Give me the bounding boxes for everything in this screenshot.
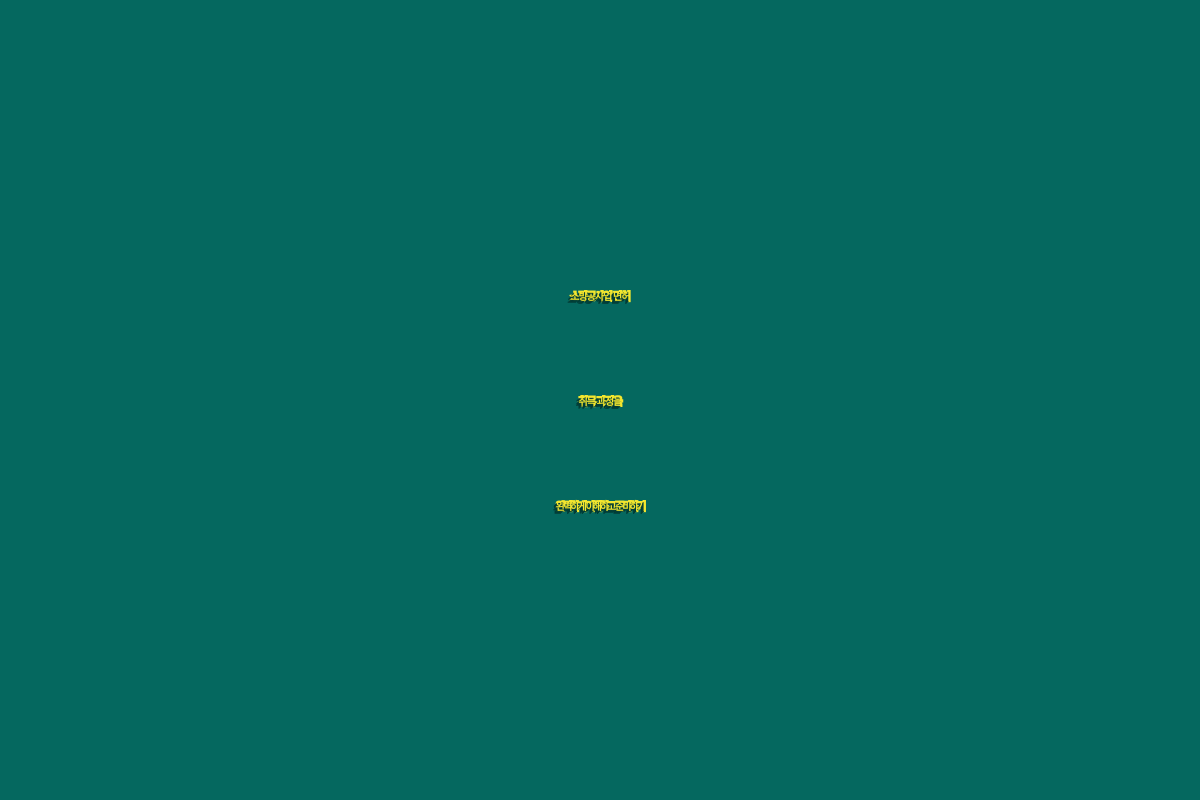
page-title: 소방공사업 면허 취득 과정을 완벽하게 이해하고 준비하기 — [0, 245, 1200, 560]
title-line-3: 완벽하게 이해하고 준비하기 — [10, 455, 1190, 560]
title-line-1: 소방공사업 면허 — [10, 245, 1190, 350]
title-card-canvas: 소방공사업 면허 취득 과정을 완벽하게 이해하고 준비하기 — [0, 0, 1200, 800]
title-line-2: 취득 과정을 — [10, 350, 1190, 455]
